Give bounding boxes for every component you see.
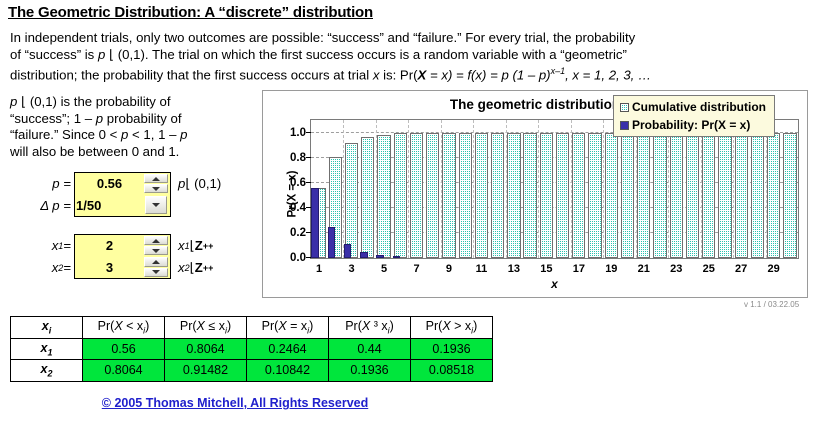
x1-spinner-buttons bbox=[144, 235, 170, 256]
p-decrement-button[interactable] bbox=[144, 184, 168, 193]
bar-cumulative bbox=[491, 133, 504, 258]
x-tick-label: 7 bbox=[413, 263, 419, 275]
x1-control-row: x1 = 2 bbox=[32, 234, 171, 257]
bar-cumulative bbox=[767, 133, 780, 258]
bar-cumulative bbox=[523, 133, 536, 258]
table-row-label: x1 bbox=[11, 338, 83, 360]
table-cell-value: 0.2464 bbox=[247, 338, 329, 360]
table-cell-value: 0.91482 bbox=[165, 360, 247, 382]
bar-group bbox=[522, 120, 538, 258]
x-tick-label: 17 bbox=[573, 263, 585, 275]
bar-group bbox=[441, 120, 457, 258]
table-cell-value: 0.10842 bbox=[247, 360, 329, 382]
bar-group bbox=[506, 120, 522, 258]
delta-p-label: Δ p = bbox=[32, 194, 74, 217]
table-row-label: x2 bbox=[11, 360, 83, 382]
table-cell-value: 0.1936 bbox=[329, 360, 411, 382]
bar-group bbox=[425, 120, 441, 258]
x-tick-label: 23 bbox=[670, 263, 682, 275]
table-column-header: Pr(X ≤ xi) bbox=[165, 317, 247, 339]
bar-group bbox=[587, 120, 603, 258]
p-spinner[interactable]: 0.56 bbox=[74, 172, 171, 195]
bar-probability bbox=[344, 244, 351, 258]
x2-decrement-button[interactable] bbox=[144, 268, 168, 278]
legend-item-probability: Probability: Pr(X = x) bbox=[620, 118, 766, 132]
bar-cumulative bbox=[653, 133, 666, 258]
left-line-2-p: p bbox=[96, 111, 103, 126]
bar-cumulative bbox=[718, 133, 731, 258]
x1-label-x: x bbox=[52, 238, 59, 253]
intro-line-3-X: X bbox=[418, 67, 427, 82]
table-cell-value: 0.8064 bbox=[165, 338, 247, 360]
intro-line-3-a: distribution; the probability that the f… bbox=[10, 67, 373, 82]
intro-line-3-d: , x = 1, 2, 3, … bbox=[565, 67, 651, 82]
bar-cumulative bbox=[556, 133, 569, 258]
intro-line-2-b: ⌊ (0,1). The trial on which the first su… bbox=[105, 47, 627, 62]
p-control-row: p = 0.56 bbox=[32, 172, 171, 195]
x2-spinner[interactable]: 3 bbox=[74, 256, 171, 279]
bar-group bbox=[766, 120, 782, 258]
table-cell-value: 0.8064 bbox=[83, 360, 165, 382]
p-domain-note-rest: ⌊ (0,1) bbox=[185, 176, 221, 192]
bar-cumulative bbox=[361, 137, 374, 258]
x2-note-z: Z bbox=[195, 260, 203, 275]
legend-swatch-probability-icon bbox=[620, 121, 629, 130]
bar-group bbox=[360, 120, 376, 258]
bar-cumulative bbox=[507, 133, 520, 258]
delta-p-value[interactable]: 1/50 bbox=[75, 194, 145, 216]
bar-cumulative bbox=[686, 133, 699, 258]
triangle-up-icon bbox=[152, 260, 160, 264]
table-column-header: Pr(X = xi) bbox=[247, 317, 329, 339]
bar-group bbox=[782, 120, 798, 258]
bar-cumulative bbox=[637, 133, 650, 258]
bar-cumulative bbox=[621, 133, 634, 258]
bar-group bbox=[538, 120, 554, 258]
triangle-down-icon bbox=[152, 249, 160, 253]
bar-cumulative bbox=[442, 133, 455, 258]
legend-label-cumulative: Cumulative distribution bbox=[632, 100, 766, 114]
results-table: xiPr(X < xi)Pr(X ≤ xi)Pr(X = xi)Pr(X ³ x… bbox=[10, 316, 493, 382]
x1-note-z: Z bbox=[195, 238, 203, 253]
bar-group bbox=[684, 120, 700, 258]
bar-cumulative bbox=[394, 133, 407, 258]
triangle-down-icon bbox=[152, 270, 160, 274]
legend-swatch-cumulative-icon bbox=[620, 103, 629, 112]
table-cell-value: 0.1936 bbox=[411, 338, 493, 360]
bar-group bbox=[376, 120, 392, 258]
table-cell-value: 0.08518 bbox=[411, 360, 493, 382]
y-tick-label: 0.4 bbox=[290, 202, 306, 214]
bar-group bbox=[490, 120, 506, 258]
left-line-2: “success”; 1 – p probability of bbox=[10, 111, 255, 128]
x-tick-label: 3 bbox=[349, 263, 355, 275]
triangle-up-icon bbox=[152, 239, 160, 243]
x2-increment-button[interactable] bbox=[144, 257, 168, 267]
bar-group bbox=[473, 120, 489, 258]
triangle-down-icon bbox=[152, 187, 160, 191]
p-spinner-buttons bbox=[144, 173, 170, 194]
bar-group bbox=[311, 120, 327, 258]
left-line-1-rest: ⌊ (0,1) is the probability of bbox=[17, 94, 170, 109]
bar-cumulative bbox=[410, 133, 423, 258]
left-line-4: will also be between 0 and 1. bbox=[10, 144, 255, 161]
left-line-3-b: < 1, 1 – bbox=[128, 127, 180, 142]
intro-line-3-c: = x) = f(x) = p (1 – p) bbox=[426, 67, 550, 82]
chart-x-axis-label: x bbox=[310, 277, 799, 291]
legend-item-cumulative: Cumulative distribution bbox=[620, 100, 766, 114]
x2-label-eq: = bbox=[63, 260, 71, 275]
x-tick-label: 11 bbox=[476, 263, 488, 275]
table-row: x10.560.80640.24640.440.1936 bbox=[11, 338, 493, 360]
p-domain-note: p ⌊ (0,1) bbox=[178, 172, 221, 195]
y-tick-label: 1.0 bbox=[290, 127, 306, 139]
x2-value[interactable]: 3 bbox=[75, 256, 144, 278]
table-header-row: xiPr(X < xi)Pr(X ≤ xi)Pr(X = xi)Pr(X ³ x… bbox=[11, 317, 493, 339]
intro-line-1: In independent trials, only two outcomes… bbox=[10, 30, 822, 47]
bar-probability bbox=[376, 255, 383, 258]
table-column-header: xi bbox=[11, 317, 83, 339]
y-tick-label: 0.2 bbox=[290, 227, 306, 239]
x1-domain-note: x1 ⌊ Z++ bbox=[178, 234, 213, 257]
bar-cumulative bbox=[702, 133, 715, 258]
x-tick-label: 19 bbox=[605, 263, 617, 275]
bar-cumulative bbox=[475, 133, 488, 258]
left-line-2-a: “success”; 1 – bbox=[10, 111, 96, 126]
x-tick-label: 27 bbox=[735, 263, 747, 275]
version-label: v 1.1 / 03.22.05 bbox=[744, 300, 799, 309]
bar-cumulative bbox=[345, 143, 358, 258]
copyright-link[interactable]: © 2005 Thomas Mitchell, All Rights Reser… bbox=[102, 396, 368, 410]
y-tick-label: 0.8 bbox=[290, 152, 306, 164]
bar-group bbox=[392, 120, 408, 258]
chart-panel[interactable]: The geometric distribution Pr(X = x) 0.0… bbox=[262, 90, 808, 298]
x-tick-label: 21 bbox=[638, 263, 650, 275]
x1-value[interactable]: 2 bbox=[75, 235, 144, 256]
table-column-header: Pr(X < xi) bbox=[83, 317, 165, 339]
bar-group bbox=[717, 120, 733, 258]
left-line-2-b: probability of bbox=[103, 111, 181, 126]
x1-decrement-button[interactable] bbox=[144, 246, 168, 255]
y-tick-label: 0.0 bbox=[290, 252, 306, 264]
bar-group bbox=[733, 120, 749, 258]
p-increment-button[interactable] bbox=[144, 174, 168, 183]
bar-cumulative bbox=[670, 133, 683, 258]
p-domain-note-p: p bbox=[178, 176, 185, 191]
bar-cumulative bbox=[605, 133, 618, 258]
table-cell-value: 0.44 bbox=[329, 338, 411, 360]
intro-line-2: of “success” is p ⌊ (0,1). The trial on … bbox=[10, 47, 822, 64]
x1-spinner[interactable]: 2 bbox=[74, 234, 171, 257]
parameter-controls: p = 0.56 p ⌊ (0,1) Δ p = 1/50 x1 = 2 bbox=[0, 172, 258, 282]
x2-label: x2 = bbox=[32, 256, 74, 279]
x-tick-label: 9 bbox=[446, 263, 452, 275]
chart-plot-area: 0.00.20.40.60.81.0 135791113151719212325… bbox=[310, 119, 799, 259]
bar-group bbox=[652, 120, 668, 258]
left-line-3: “failure.” Since 0 < p < 1, 1 – p bbox=[10, 127, 255, 144]
x-tick-label: 29 bbox=[768, 263, 780, 275]
page-title: The Geometric Distribution: A “discrete”… bbox=[8, 4, 373, 21]
delta-p-dropdown-button[interactable] bbox=[145, 196, 167, 214]
x-tick-label: 15 bbox=[540, 263, 552, 275]
intro-line-3-b: is: Pr( bbox=[379, 67, 417, 82]
table-column-header: Pr(X ³ xi) bbox=[329, 317, 411, 339]
x2-note-x: x bbox=[178, 260, 185, 275]
bar-cumulative bbox=[377, 135, 390, 258]
x1-note-x: x bbox=[178, 238, 185, 253]
bar-cumulative bbox=[426, 133, 439, 258]
bar-cumulative bbox=[751, 133, 764, 258]
bar-group bbox=[668, 120, 684, 258]
triangle-up-icon bbox=[152, 177, 160, 181]
bar-cumulative bbox=[459, 133, 472, 258]
bar-probability bbox=[328, 227, 335, 258]
bar-group bbox=[457, 120, 473, 258]
bar-cumulative bbox=[572, 133, 585, 258]
x1-increment-button[interactable] bbox=[144, 236, 168, 245]
intro-line-2-a: of “success” is bbox=[10, 47, 98, 62]
bar-probability bbox=[360, 252, 367, 258]
x-tick-label: 13 bbox=[508, 263, 520, 275]
left-line-1: p ⌊ (0,1) is the probability of bbox=[10, 94, 255, 111]
bar-group bbox=[343, 120, 359, 258]
intro-line-3-exponent: x–1 bbox=[551, 66, 566, 76]
bar-cumulative bbox=[540, 133, 553, 258]
x-tick-label: 25 bbox=[703, 263, 715, 275]
left-line-3-p2: p bbox=[180, 127, 187, 142]
bar-probability bbox=[311, 188, 318, 258]
x-tick-label: 5 bbox=[381, 263, 387, 275]
bar-group bbox=[603, 120, 619, 258]
bar-group bbox=[749, 120, 765, 258]
left-explanation-paragraph: p ⌊ (0,1) is the probability of “success… bbox=[10, 94, 255, 160]
bar-probability bbox=[393, 256, 400, 258]
chart-bars bbox=[311, 120, 798, 258]
legend-label-probability: Probability: Pr(X = x) bbox=[632, 118, 750, 132]
table-column-header: Pr(X > xi) bbox=[411, 317, 493, 339]
bar-group bbox=[636, 120, 652, 258]
chart-legend: Cumulative distribution Probability: Pr(… bbox=[613, 95, 775, 137]
delta-p-dropdown[interactable]: 1/50 bbox=[74, 194, 171, 217]
x1-label-eq: = bbox=[63, 238, 71, 253]
bar-group bbox=[555, 120, 571, 258]
bar-cumulative bbox=[588, 133, 601, 258]
x2-note-zsub: ++ bbox=[203, 263, 214, 273]
left-line-3-a: “failure.” Since 0 < bbox=[10, 127, 121, 142]
bar-group bbox=[571, 120, 587, 258]
bar-group bbox=[408, 120, 424, 258]
x2-control-row: x2 = 3 bbox=[32, 256, 171, 279]
bar-group bbox=[619, 120, 635, 258]
intro-line-3: distribution; the probability that the f… bbox=[10, 63, 822, 84]
x2-spinner-buttons bbox=[144, 256, 170, 278]
bar-cumulative bbox=[783, 133, 796, 258]
table-cell-value: 0.56 bbox=[83, 338, 165, 360]
x2-domain-note: x2 ⌊ Z++ bbox=[178, 256, 213, 279]
bar-cumulative bbox=[735, 133, 748, 258]
chevron-down-icon bbox=[152, 203, 160, 207]
bar-group bbox=[701, 120, 717, 258]
x-tick-label: 1 bbox=[316, 263, 322, 275]
x1-note-zsub: ++ bbox=[203, 241, 214, 251]
p-label: p = bbox=[32, 172, 74, 195]
bar-group bbox=[327, 120, 343, 258]
y-tick-label: 0.6 bbox=[290, 177, 306, 189]
footer: © 2005 Thomas Mitchell, All Rights Reser… bbox=[0, 394, 470, 412]
table-body: x10.560.80640.24640.440.1936x20.80640.91… bbox=[11, 338, 493, 381]
intro-paragraph: In independent trials, only two outcomes… bbox=[10, 30, 822, 84]
p-value[interactable]: 0.56 bbox=[75, 173, 144, 194]
x1-label: x1 = bbox=[32, 234, 74, 257]
delta-p-control-row: Δ p = 1/50 bbox=[32, 194, 171, 217]
table-row: x20.80640.914820.108420.19360.08518 bbox=[11, 360, 493, 382]
